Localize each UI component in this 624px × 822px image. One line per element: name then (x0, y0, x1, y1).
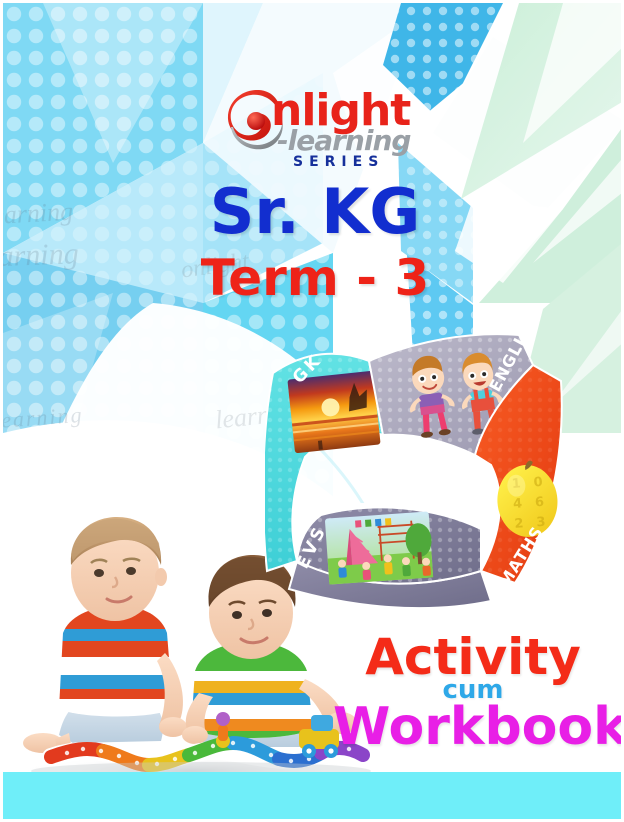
logo-series-text: SERIES (293, 155, 384, 169)
svg-text:0: 0 (533, 475, 543, 491)
term-title: Term - 3 (3, 249, 624, 307)
wheel-panel-evs (289, 435, 491, 609)
subject-wheel: 10 46 23 (265, 315, 565, 615)
gk-sunset-image (287, 371, 380, 454)
brand-logo: nlight -learning SERIES (225, 83, 415, 171)
subtitle-workbook: Workbook (333, 701, 613, 753)
bottom-color-band (3, 772, 624, 819)
evs-playground-image (325, 511, 434, 584)
subject-wheel-svg: 10 46 23 (265, 315, 565, 615)
logo-submark: -learning (277, 127, 410, 155)
toy-figure (216, 712, 230, 748)
svg-text:4: 4 (513, 496, 523, 512)
subtitle-activity: Activity (333, 633, 613, 681)
svg-text:3: 3 (536, 515, 546, 531)
book-cover: learning learning learning onlight learn… (0, 0, 624, 822)
subtitle-block: Activity cum Workbook (333, 633, 613, 753)
svg-text:2: 2 (514, 516, 524, 532)
grade-title: Sr. KG (3, 175, 624, 248)
svg-text:6: 6 (535, 495, 545, 511)
